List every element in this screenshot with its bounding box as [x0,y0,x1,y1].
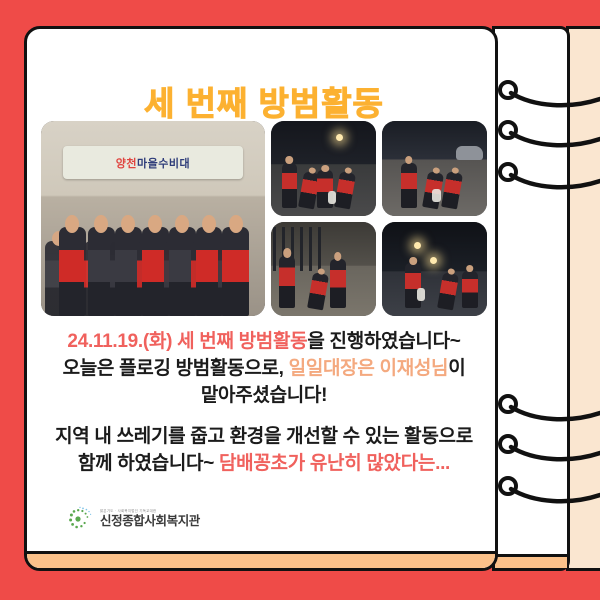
photo-sidewalk-sweep [271,121,376,216]
logo-mark-icon [63,504,93,534]
text-run: 담배꽁초가 유난히 많았다는... [219,453,450,474]
notebook-page-front: 세 번째 방범활동 양천마을수비대 [24,26,498,571]
logo-name: 신정종합사회복지관 [100,515,200,528]
photo-grid [271,121,487,316]
paragraph-2-line-2: 함께 하였습니다~ 담배꽁초가 유난히 많았다는... [37,451,491,478]
paragraph-1: 24.11.19.(화) 세 번째 방범활동을 진행하였습니다~ 오늘은 플로깅… [37,329,491,410]
text-run: 이 [448,358,465,379]
paragraph-2-line-1: 지역 내 쓰레기를 줍고 환경을 개선할 수 있는 활동으로 [37,424,491,451]
paragraph-1-line-3: 맡아주셨습니다! [37,383,491,410]
body-text: 24.11.19.(화) 세 번째 방범활동을 진행하였습니다~ 오늘은 플로깅… [37,329,491,492]
logo-tagline: 맑은기도 · 사회복지법인 기독교대한 [100,510,200,513]
photo-collage: 양천마을수비대 [41,121,487,316]
photo-busstop-litter [382,121,487,216]
text-run: 오늘은 플로깅 방범활동으로, [63,358,289,379]
photo-group-banner: 양천마을수비대 [41,121,265,316]
photo-banner-text: 양천마을수비대 [63,146,242,179]
notebook-page-middle [492,26,570,571]
text-run: 일일대장은 이재성님 [289,358,449,379]
notebook-page-accent-bar [27,551,495,568]
poster-card: 세 번째 방범활동 양천마을수비대 [0,0,600,600]
paragraph-2: 지역 내 쓰레기를 줍고 환경을 개선할 수 있는 활동으로 함께 하였습니다~… [37,424,491,478]
notebook-page-back [566,26,600,571]
text-run: 방범활동 [239,331,308,352]
text-run: 을 진행하였습니다~ [307,331,460,352]
photo-railing-cleanup [271,222,376,317]
paragraph-1-line-2: 오늘은 플로깅 방범활동으로, 일일대장은 이재성님이 [37,356,491,383]
text-run: 맡아주셨습니다! [201,385,327,406]
text-run: 24.11.19.(화) 세 번째 [67,331,238,352]
text-run: 함께 하였습니다~ [78,453,219,474]
organization-logo: 맑은기도 · 사회복지법인 기독교대한 신정종합사회복지관 [63,504,200,534]
paragraph-1-line-1: 24.11.19.(화) 세 번째 방범활동을 진행하였습니다~ [37,329,491,356]
notebook-page-middle-accent-bar [495,554,567,568]
page-title: 세 번째 방범활동 [27,77,498,125]
photo-night-alley [382,222,487,317]
text-run: 지역 내 쓰레기를 줍고 환경을 개선할 수 있는 활동으로 [55,426,473,447]
